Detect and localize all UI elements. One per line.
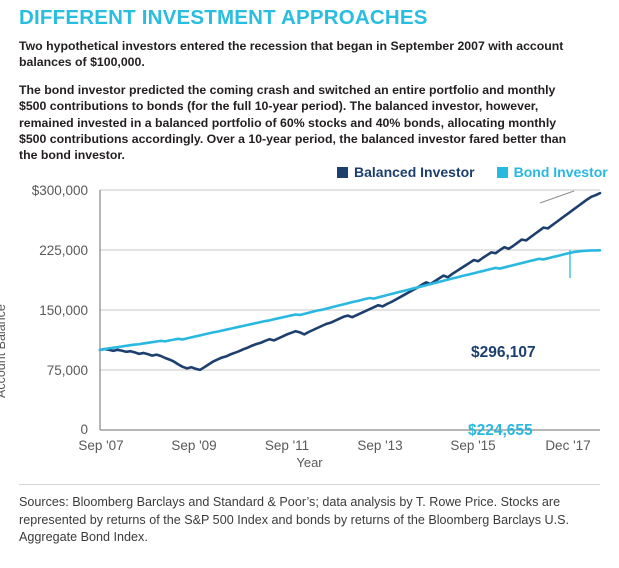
x-tick-sep-07: Sep '07	[61, 438, 141, 453]
footer-divider	[19, 484, 600, 485]
x-tick-dec-17: Dec '17	[528, 438, 608, 453]
data-label-balanced: $296,107	[471, 344, 536, 362]
line-chart: Account Balance $300,000 225,000 150,000…	[0, 150, 619, 480]
y-tick-150000: 150,000	[0, 303, 88, 318]
x-tick-sep-09: Sep '09	[154, 438, 234, 453]
infographic-page: DIFFERENT INVESTMENT APPROACHES Two hypo…	[0, 0, 619, 568]
chart-gridlines	[100, 190, 600, 430]
series-line-bond	[100, 250, 600, 350]
sources-text: Sources: Bloomberg Barclays and Standard…	[19, 494, 597, 547]
y-axis-title: Account Balance	[0, 304, 8, 398]
intro-paragraph-1: Two hypothetical investors entered the r…	[19, 38, 579, 71]
y-tick-0: 0	[0, 422, 88, 437]
page-title: DIFFERENT INVESTMENT APPROACHES	[19, 6, 428, 30]
x-tick-sep-13: Sep '13	[340, 438, 420, 453]
y-tick-300000: $300,000	[0, 183, 88, 198]
x-tick-sep-15: Sep '15	[433, 438, 513, 453]
y-tick-75000: 75,000	[0, 363, 88, 378]
y-tick-225000: 225,000	[0, 243, 88, 258]
x-tick-sep-11: Sep '11	[247, 438, 327, 453]
leader-line-balanced	[540, 191, 574, 203]
data-label-bond: $224,655	[468, 422, 533, 440]
chart-leader-lines	[540, 191, 574, 278]
x-axis-title: Year	[0, 455, 619, 470]
